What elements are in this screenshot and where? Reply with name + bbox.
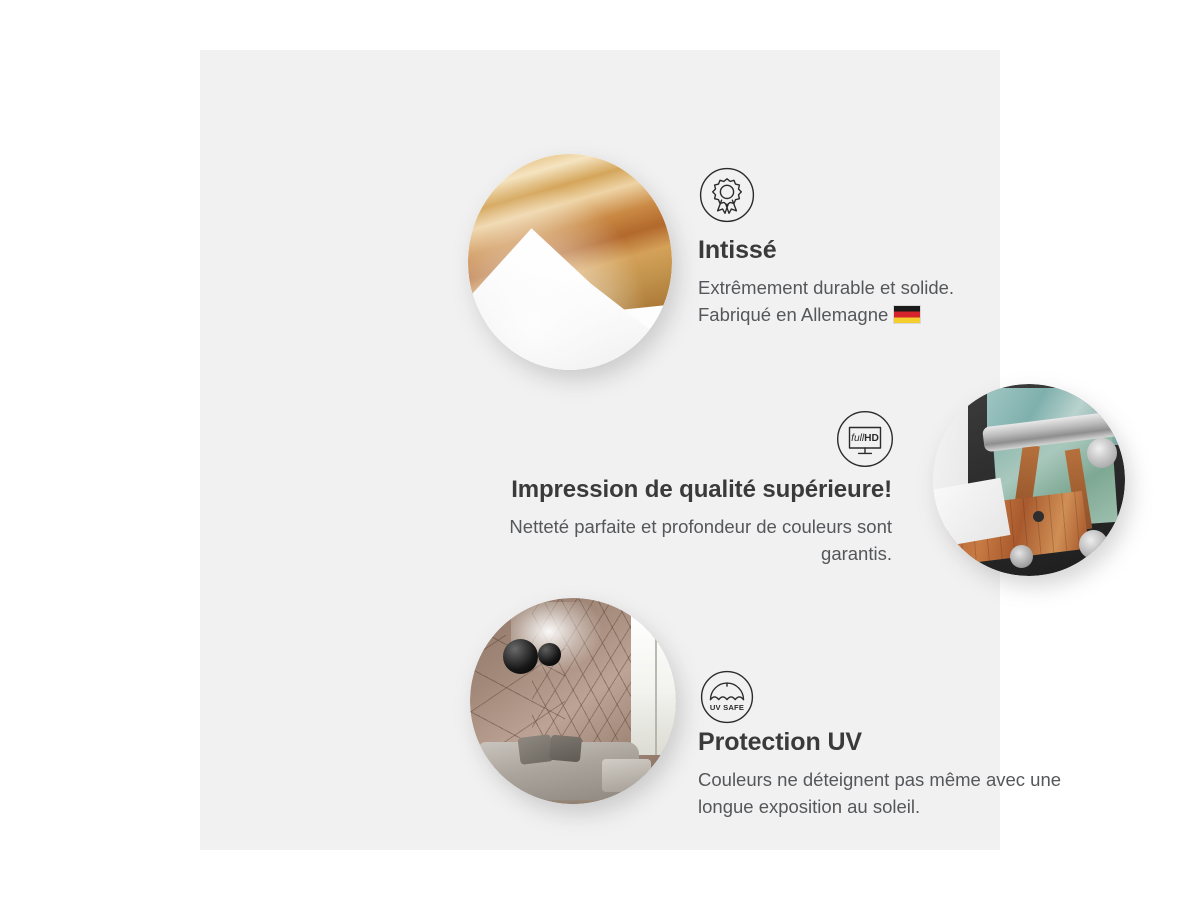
intisse-body: Extrêmement durable et solide. Fabriqué … (698, 274, 1028, 328)
impression-body-line-2: garantis. (821, 543, 892, 564)
protection-uv-body-line-1: Couleurs ne déteignent pas même avec une (698, 769, 1061, 790)
protection-uv-headline: Protection UV (698, 726, 1088, 758)
wallpaper-roll-photo (468, 154, 672, 370)
room-window (631, 614, 676, 754)
impression-text-block: Impression de qualité supérieure! Nettet… (480, 474, 892, 567)
room-cushion-right (549, 735, 582, 762)
room-ottoman (602, 759, 651, 792)
intisse-headline: Intissé (698, 234, 1028, 266)
content-panel: Intissé Extrêmement durable et solide. F… (200, 50, 1000, 850)
protection-uv-text-block: Protection UV Couleurs ne déteignent pas… (698, 726, 1088, 820)
intisse-body-line-2: Fabriqué en Allemagne (698, 304, 888, 325)
wallpaper-roll-photo-inner (468, 154, 672, 370)
uv-safe-label: UV SAFE (710, 703, 744, 712)
full-hd-monitor-icon: fullHD (836, 410, 894, 468)
german-flag-icon (893, 305, 921, 324)
protection-uv-body: Couleurs ne déteignent pas même avec une… (698, 766, 1088, 820)
roll-highlight (468, 154, 672, 370)
room-window-frame (655, 614, 657, 754)
printing-machine-photo (933, 384, 1125, 576)
impression-headline: Impression de qualité supérieure! (480, 474, 892, 506)
room-decor-sphere-large (503, 639, 538, 674)
award-rosette-icon (699, 167, 755, 223)
printer-wheel-center (1010, 545, 1033, 568)
room-cushion-left (518, 734, 554, 765)
living-room-mural-photo (470, 598, 676, 804)
protection-uv-body-line-2: longue exposition au soleil. (698, 796, 920, 817)
svg-text:fullHD: fullHD (851, 433, 879, 444)
printer-wheel-bottom (1079, 530, 1108, 559)
intisse-text-block: Intissé Extrêmement durable et solide. F… (698, 234, 1028, 328)
infographic-page: Intissé Extrêmement durable et solide. F… (0, 0, 1200, 900)
impression-body: Netteté parfaite et profondeur de couleu… (480, 513, 892, 567)
uv-safe-umbrella-icon: UV SAFE (700, 670, 754, 724)
impression-body-line-1: Netteté parfaite et profondeur de couleu… (509, 516, 892, 537)
room-decor-sphere-small (538, 643, 561, 666)
intisse-body-line-1: Extrêmement durable et solide. (698, 277, 954, 298)
printing-machine-photo-inner (933, 384, 1125, 576)
living-room-photo-inner (470, 598, 676, 804)
